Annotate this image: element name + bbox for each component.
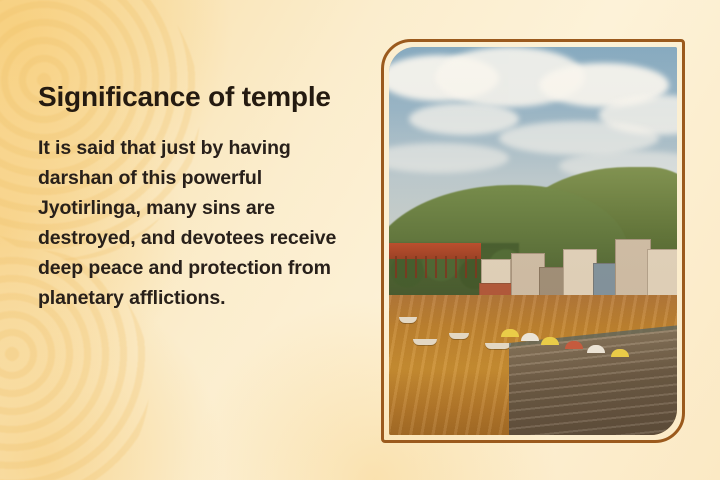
boat: [413, 339, 437, 345]
page-title: Significance of temple: [38, 78, 338, 116]
cloud: [499, 121, 659, 155]
boat: [485, 343, 511, 349]
umbrella: [587, 345, 605, 353]
body-paragraph: It is said that just by having darshan o…: [38, 134, 338, 313]
boat: [449, 333, 469, 339]
umbrella: [611, 349, 629, 357]
slide-canvas: Significance of temple It is said that j…: [0, 0, 720, 480]
photo-frame: [381, 39, 685, 443]
bridge: [389, 243, 481, 259]
text-column: Significance of temple It is said that j…: [38, 78, 338, 313]
umbrella: [541, 337, 559, 345]
umbrella: [501, 329, 519, 337]
umbrella: [521, 333, 539, 341]
cloud: [409, 103, 519, 135]
umbrella: [565, 341, 583, 349]
photo-image: [389, 47, 677, 435]
